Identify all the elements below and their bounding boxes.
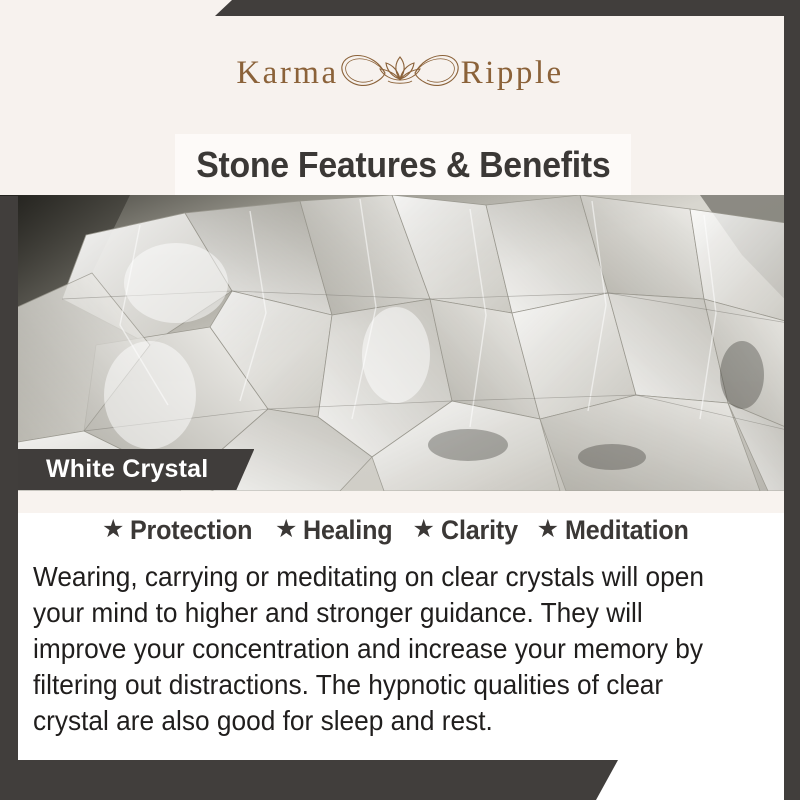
brand-name-left: Karma bbox=[236, 55, 338, 92]
star-icon: ★ bbox=[102, 517, 124, 542]
benefit-label: Clarity bbox=[441, 515, 518, 546]
brand-logo: Karma bbox=[0, 44, 800, 102]
benefit-label: Meditation bbox=[565, 515, 689, 546]
frame-bar-right bbox=[784, 16, 800, 800]
title-band: Stone Features & Benefits bbox=[175, 134, 631, 195]
stone-photo bbox=[0, 195, 800, 491]
star-icon: ★ bbox=[275, 517, 297, 542]
brand-name-right: Ripple bbox=[461, 55, 564, 92]
stone-description: Wearing, carrying or meditating on clear… bbox=[33, 559, 723, 739]
star-icon: ★ bbox=[413, 517, 435, 542]
benefit-item-meditation: ★ Meditation bbox=[537, 515, 698, 546]
stone-benefits-infographic: Karma bbox=[0, 0, 800, 800]
lotus-infinity-icon bbox=[341, 44, 459, 102]
frame-bar-top-right bbox=[215, 0, 800, 16]
benefit-label: Healing bbox=[303, 515, 392, 546]
benefit-label: Protection bbox=[130, 515, 252, 546]
stone-name-banner: White Crystal bbox=[18, 449, 254, 490]
benefit-item-protection: ★ Protection bbox=[102, 515, 262, 546]
body-section: ★ Protection ★ Healing ★ Clarity ★ Medit… bbox=[0, 491, 800, 800]
benefit-item-healing: ★ Healing bbox=[275, 515, 400, 546]
benefits-list: ★ Protection ★ Healing ★ Clarity ★ Medit… bbox=[0, 515, 800, 546]
star-icon: ★ bbox=[537, 517, 559, 542]
frame-bar-bottom bbox=[0, 760, 618, 800]
body-top-fade bbox=[0, 491, 800, 513]
stone-name-label: White Crystal bbox=[46, 455, 208, 484]
frame-bar-left bbox=[0, 196, 18, 800]
page-title: Stone Features & Benefits bbox=[196, 144, 610, 186]
benefit-item-clarity: ★ Clarity bbox=[413, 515, 524, 546]
crystal-cluster-illustration bbox=[0, 195, 800, 491]
